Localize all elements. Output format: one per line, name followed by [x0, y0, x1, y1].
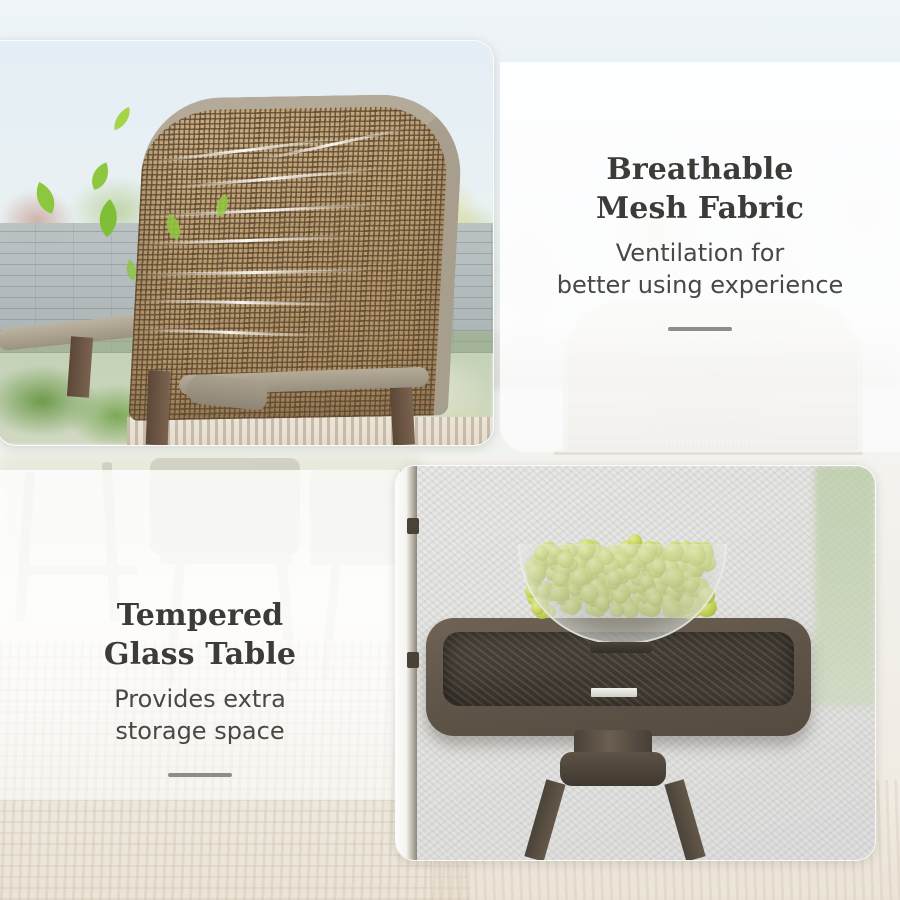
chair-hinge: [407, 518, 419, 534]
subline-line-2: better using experience: [557, 271, 844, 299]
feature-card-breathable-mesh: Breathable Mesh Fabric Ventilation for b…: [500, 62, 900, 452]
infographic-canvas: Breathable Mesh Fabric Ventilation for b…: [0, 0, 900, 900]
feature-headline: Breathable Mesh Fabric: [500, 150, 900, 228]
clear-glass-bowl: [518, 544, 727, 644]
secondary-chair-leg: [67, 336, 93, 397]
divider-rule: [168, 773, 232, 777]
headline-line-1: Breathable: [606, 152, 793, 187]
photo-panel-breathable-mesh: [0, 40, 494, 446]
leaf-icon: [93, 198, 123, 239]
photo-panel-tempered-glass-table: [395, 465, 876, 861]
photo-patio-rug: [127, 417, 493, 446]
table-collar: [560, 752, 666, 786]
photo-chair-edge: [395, 466, 417, 860]
subline-line-1: Provides extra: [114, 685, 286, 713]
glass-safety-label: [591, 688, 637, 697]
feature-headline: Tempered Glass Table: [0, 596, 400, 674]
chair-leg: [146, 371, 171, 446]
feature-subline: Ventilation for better using experience: [500, 238, 900, 301]
bowl-base: [590, 642, 652, 653]
airflow-streak-icon: [137, 131, 437, 381]
subline-line-1: Ventilation for: [616, 239, 785, 267]
headline-line-1: Tempered: [117, 598, 283, 633]
glass-bowl-with-grapes: [518, 524, 723, 644]
feature-subline: Provides extra storage space: [0, 684, 400, 747]
photo-foliage: [815, 466, 875, 706]
subline-line-2: storage space: [115, 717, 284, 745]
leaf-icon: [122, 258, 141, 282]
feature-card-tempered-glass-table: Tempered Glass Table Provides extra stor…: [0, 470, 400, 800]
headline-line-2: Glass Table: [104, 637, 296, 672]
divider-rule: [668, 327, 732, 331]
chair-hinge: [407, 652, 419, 668]
headline-line-2: Mesh Fabric: [596, 191, 804, 226]
